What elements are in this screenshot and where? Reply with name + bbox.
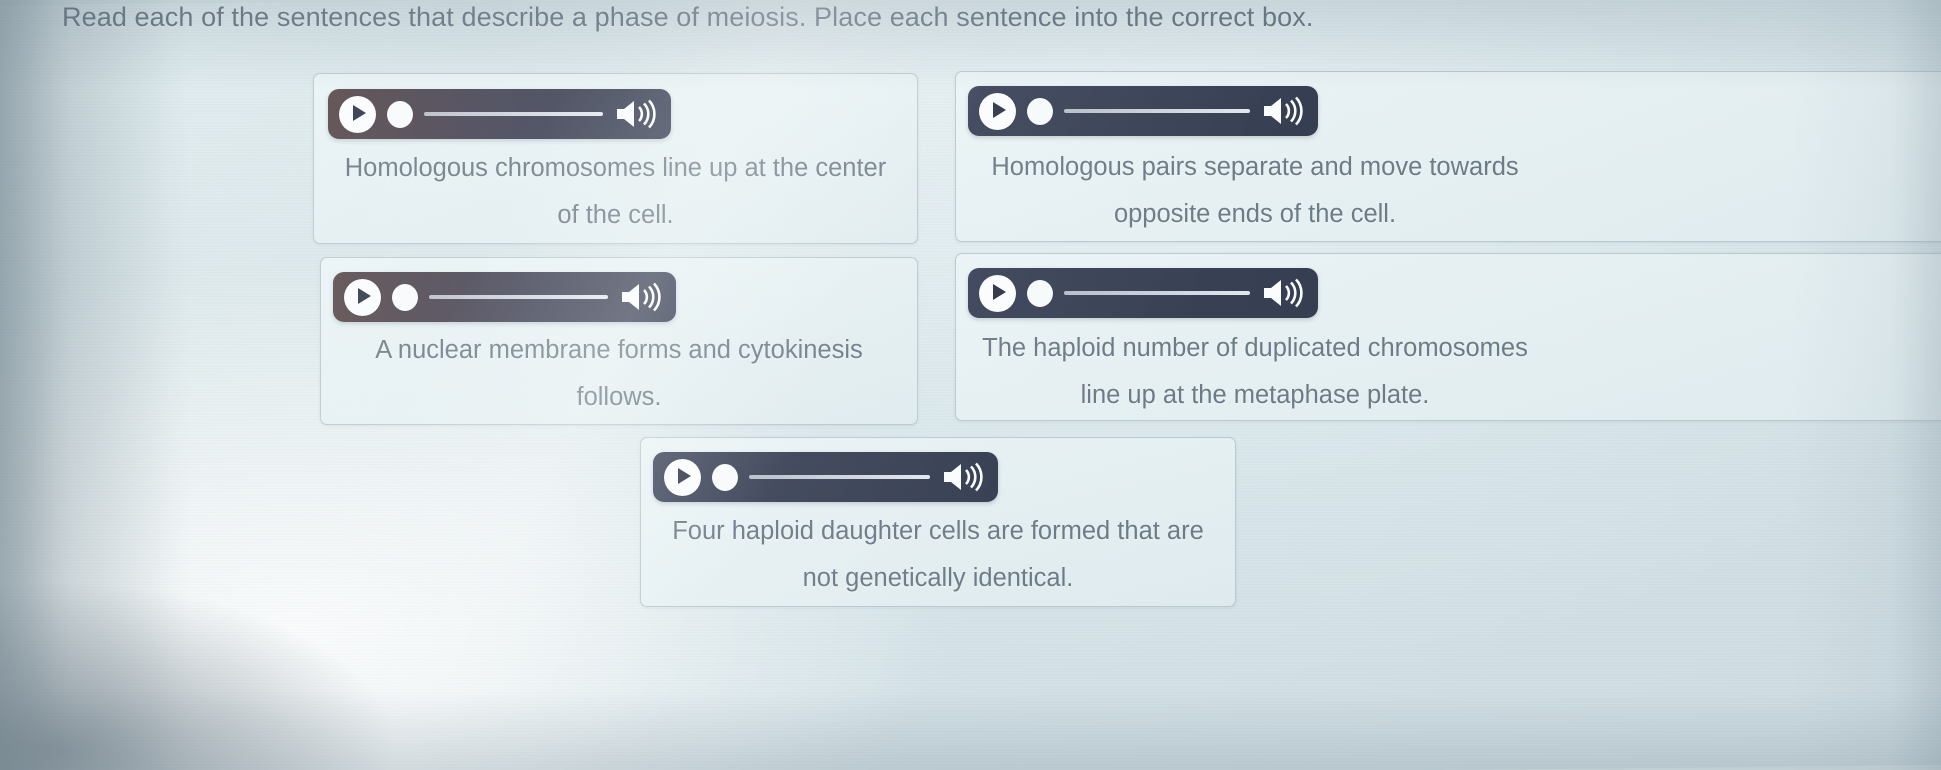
sentence-card-1[interactable]: Homologous chromosomes line up at the ce… xyxy=(313,73,918,244)
audio-player-1[interactable] xyxy=(328,89,671,139)
page-title: Read each of the sentences that describe… xyxy=(62,2,1313,33)
speaker-volume-icon[interactable] xyxy=(941,459,987,495)
audio-player-3[interactable] xyxy=(333,272,676,322)
sentence-line: A nuclear membrane forms and cytokinesis xyxy=(331,327,907,374)
progress-handle[interactable] xyxy=(387,101,413,128)
progress-track[interactable] xyxy=(1064,109,1250,113)
sentence-card-4[interactable]: The haploid number of duplicated chromos… xyxy=(955,253,1941,421)
sentence-line: line up at the metaphase plate. xyxy=(966,372,1544,419)
speaker-volume-icon[interactable] xyxy=(1261,275,1307,311)
audio-player-2[interactable] xyxy=(968,86,1318,136)
progress-handle[interactable] xyxy=(392,284,418,311)
speaker-volume-icon[interactable] xyxy=(1261,93,1307,129)
play-icon[interactable] xyxy=(339,96,376,133)
sentence-line: Homologous chromosomes line up at the ce… xyxy=(324,145,907,192)
speaker-volume-icon[interactable] xyxy=(619,279,665,315)
sentence-line: of the cell. xyxy=(324,192,907,239)
sentence-line: follows. xyxy=(331,374,907,421)
sentence-line: Homologous pairs separate and move towar… xyxy=(966,144,1544,191)
play-icon[interactable] xyxy=(979,275,1016,312)
progress-track[interactable] xyxy=(429,295,608,299)
audio-player-5[interactable] xyxy=(653,452,998,502)
sentence-line: opposite ends of the cell. xyxy=(966,191,1544,238)
sentence-card-2[interactable]: Homologous pairs separate and move towar… xyxy=(955,71,1941,242)
audio-player-4[interactable] xyxy=(968,268,1318,318)
sentence-line: Four haploid daughter cells are formed t… xyxy=(651,508,1225,555)
sentence-card-3[interactable]: A nuclear membrane forms and cytokinesis… xyxy=(320,257,918,425)
play-icon[interactable] xyxy=(344,279,381,316)
play-icon[interactable] xyxy=(979,93,1016,130)
play-icon[interactable] xyxy=(664,459,701,496)
speaker-volume-icon[interactable] xyxy=(614,96,660,132)
sentence-card-5[interactable]: Four haploid daughter cells are formed t… xyxy=(640,437,1236,607)
photographed-screen: Read each of the sentences that describe… xyxy=(0,0,1941,770)
progress-track[interactable] xyxy=(1064,291,1250,295)
progress-handle[interactable] xyxy=(1027,98,1053,125)
progress-track[interactable] xyxy=(424,112,603,116)
progress-track[interactable] xyxy=(749,475,930,479)
sentence-line: not genetically identical. xyxy=(651,555,1225,602)
sentence-line: The haploid number of duplicated chromos… xyxy=(966,325,1544,372)
progress-handle[interactable] xyxy=(712,464,738,491)
progress-handle[interactable] xyxy=(1027,280,1053,307)
quiz-content: Read each of the sentences that describe… xyxy=(0,0,1941,770)
